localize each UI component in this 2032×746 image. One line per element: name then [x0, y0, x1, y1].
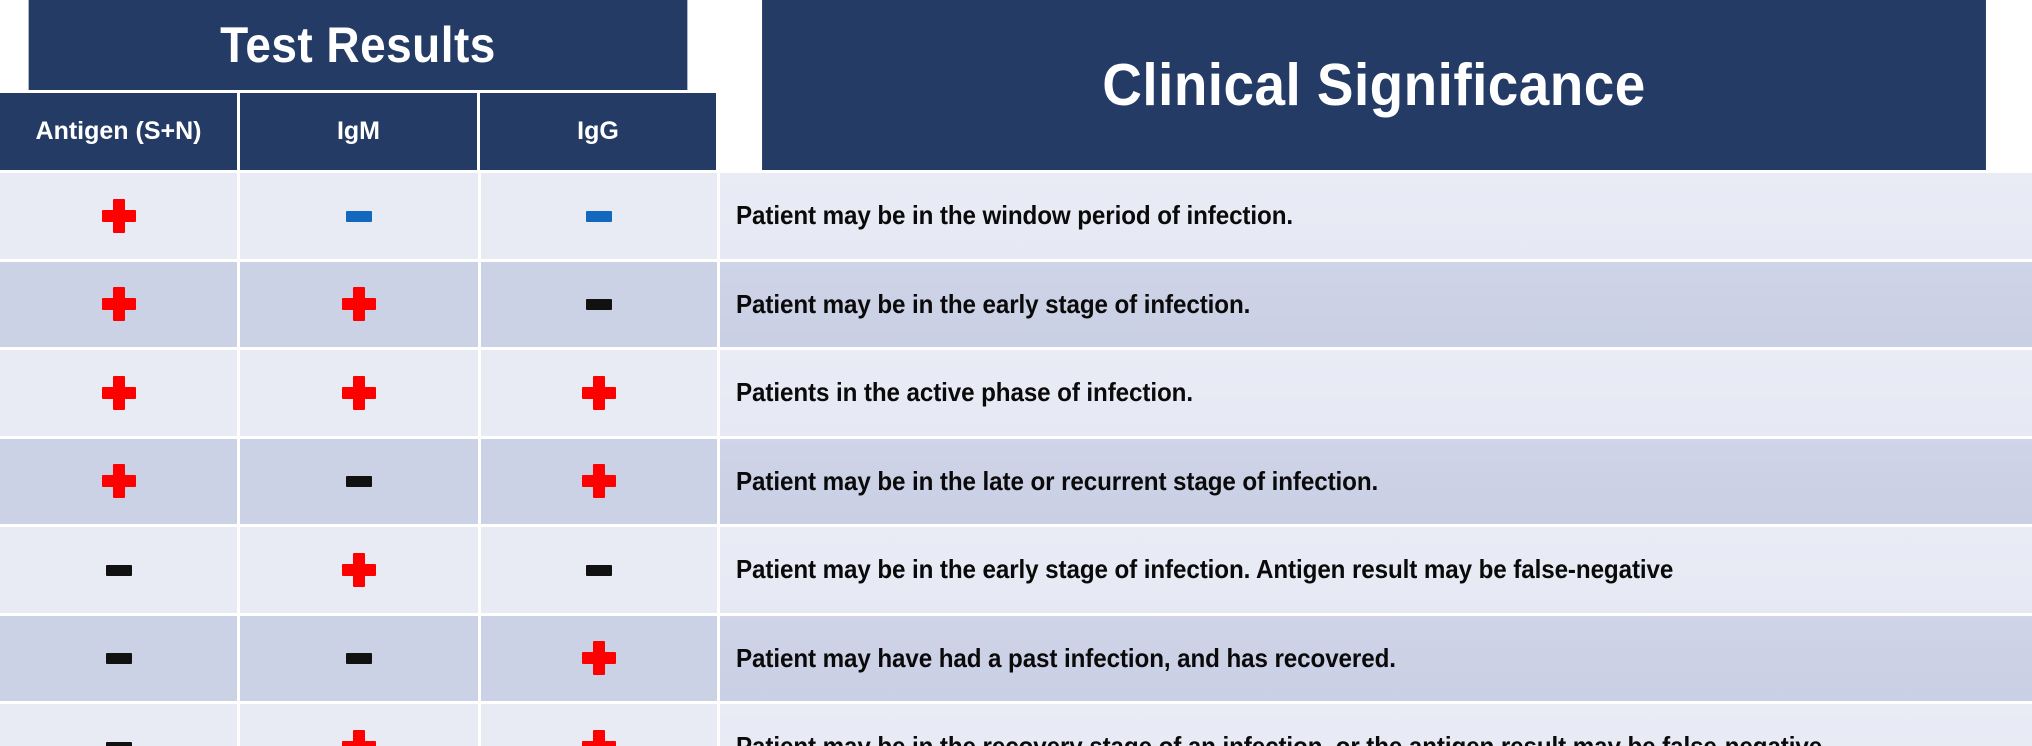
negative-icon — [346, 641, 372, 675]
result-cell-antigen — [0, 527, 237, 613]
column-header-igm: IgM — [240, 93, 477, 170]
table-row: Patient may be in the early stage of inf… — [0, 262, 2032, 348]
result-cell-igg — [481, 350, 717, 436]
result-cell-antigen — [0, 439, 237, 525]
result-cell-igm — [240, 173, 477, 259]
positive-icon — [342, 730, 376, 746]
result-cell-igg — [481, 262, 717, 348]
positive-icon — [102, 199, 136, 233]
clinical-significance-cell: Patient may be in the window period of i… — [720, 173, 2032, 259]
result-cell-antigen — [0, 173, 237, 259]
clinical-significance-text: Patient may be in the late or recurrent … — [736, 466, 1378, 497]
result-cell-igm — [240, 616, 477, 702]
clinical-significance-cell: Patient may be in the late or recurrent … — [720, 439, 2032, 525]
clinical-significance-text: Patient may be in the early stage of inf… — [736, 289, 1250, 320]
table-row: Patient may be in the late or recurrent … — [0, 439, 2032, 525]
test-results-title: Test Results — [29, 0, 688, 90]
positive-icon — [102, 376, 136, 410]
negative-icon — [586, 199, 612, 233]
test-results-header-group: Test Results Antigen (S+N) IgM IgG — [0, 0, 716, 170]
result-cell-igg — [481, 704, 717, 746]
result-cell-igg — [481, 527, 717, 613]
negative-icon — [106, 730, 132, 746]
table-row: Patient may have had a past infection, a… — [0, 616, 2032, 702]
positive-icon — [342, 287, 376, 321]
positive-icon — [582, 730, 616, 746]
negative-icon — [586, 287, 612, 321]
clinical-significance-text: Patient may be in the early stage of inf… — [736, 554, 1673, 585]
result-cell-igm — [240, 262, 477, 348]
clinical-significance-text: Patients in the active phase of infectio… — [736, 377, 1193, 408]
clinical-significance-text: Patient may be in the window period of i… — [736, 200, 1293, 231]
table-row: Patient may be in the recovery stage of … — [0, 704, 2032, 746]
negative-icon — [346, 199, 372, 233]
negative-icon — [346, 464, 372, 498]
negative-icon — [106, 553, 132, 587]
result-cell-antigen — [0, 350, 237, 436]
result-cell-igm — [240, 350, 477, 436]
positive-icon — [342, 376, 376, 410]
positive-icon — [102, 464, 136, 498]
result-cell-igg — [481, 173, 717, 259]
positive-icon — [582, 376, 616, 410]
clinical-significance-cell: Patient may have had a past infection, a… — [720, 616, 2032, 702]
table-header: Test Results Antigen (S+N) IgM IgG Clini… — [0, 0, 2032, 170]
result-cell-antigen — [0, 616, 237, 702]
table-row: Patients in the active phase of infectio… — [0, 350, 2032, 436]
result-cell-antigen — [0, 704, 237, 746]
clinical-significance-cell: Patient may be in the recovery stage of … — [720, 704, 2032, 746]
positive-icon — [582, 641, 616, 675]
table-row: Patient may be in the window period of i… — [0, 173, 2032, 259]
positive-icon — [102, 287, 136, 321]
table-body: Patient may be in the window period of i… — [0, 173, 2032, 746]
test-results-table: Test Results Antigen (S+N) IgM IgG Clini… — [0, 0, 2032, 746]
positive-icon — [342, 553, 376, 587]
result-cell-igm — [240, 439, 477, 525]
result-cell-igg — [481, 439, 717, 525]
result-cell-igg — [481, 616, 717, 702]
positive-icon — [582, 464, 616, 498]
clinical-significance-title: Clinical Significance — [762, 0, 1986, 170]
result-cell-antigen — [0, 262, 237, 348]
result-cell-igm — [240, 527, 477, 613]
result-cell-igm — [240, 704, 477, 746]
clinical-significance-cell: Patients in the active phase of infectio… — [720, 350, 2032, 436]
clinical-significance-text: Patient may be in the recovery stage of … — [736, 731, 1829, 746]
clinical-significance-text: Patient may have had a past infection, a… — [736, 643, 1396, 674]
table-row: Patient may be in the early stage of inf… — [0, 527, 2032, 613]
negative-icon — [106, 641, 132, 675]
negative-icon — [586, 553, 612, 587]
column-header-antigen: Antigen (S+N) — [0, 93, 237, 170]
column-headers-row: Antigen (S+N) IgM IgG — [0, 93, 716, 170]
clinical-significance-cell: Patient may be in the early stage of inf… — [720, 262, 2032, 348]
clinical-significance-cell: Patient may be in the early stage of inf… — [720, 527, 2032, 613]
column-header-igg: IgG — [480, 93, 716, 170]
